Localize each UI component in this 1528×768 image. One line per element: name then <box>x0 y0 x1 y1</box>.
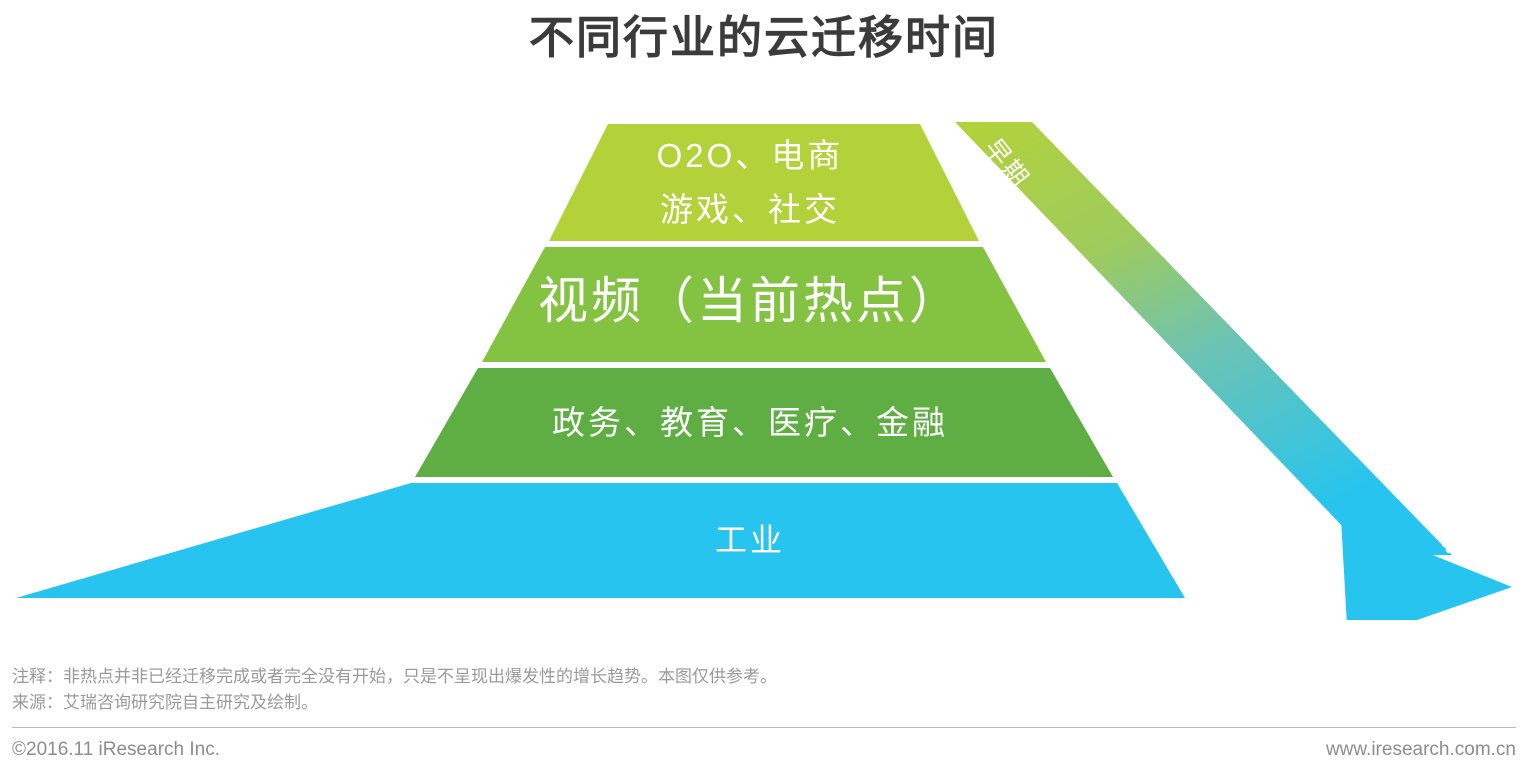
website-text: www.iresearch.com.cn <box>1326 735 1516 765</box>
source-line: 来源：艾瑞咨询研究院自主研究及绘制。 <box>12 690 1212 716</box>
pyramid-label-upper-middle: 视频（当前热点） <box>340 266 1160 336</box>
notes-block: 注释：非热点并非已经迁移完成或者完全没有开始，只是不呈现出爆发性的增长趋势。本图… <box>12 664 1212 716</box>
pyramid-label-top: O2O、电商 游戏、社交 <box>450 129 1050 237</box>
page-title: 不同行业的云迁移时间 <box>0 8 1528 68</box>
pyramid-label-base: 工业 <box>500 517 1000 563</box>
pyramid-label-top-line1: O2O、电商 <box>450 129 1050 183</box>
footer-divider <box>12 727 1516 728</box>
pyramid-label-lower-middle: 政务、教育、医疗、金融 <box>400 400 1100 446</box>
footer: ©2016.11 iResearch Inc. www.iresearch.co… <box>12 735 1516 765</box>
note-line: 注释：非热点并非已经迁移完成或者完全没有开始，只是不呈现出爆发性的增长趋势。本图… <box>12 664 1212 690</box>
pyramid-label-top-line2: 游戏、社交 <box>450 183 1050 237</box>
pyramid-diagram: O2O、电商 游戏、社交 视频（当前热点） 政务、教育、医疗、金融 工业 早期 … <box>0 100 1528 620</box>
copyright-text: ©2016.11 iResearch Inc. <box>12 735 220 765</box>
